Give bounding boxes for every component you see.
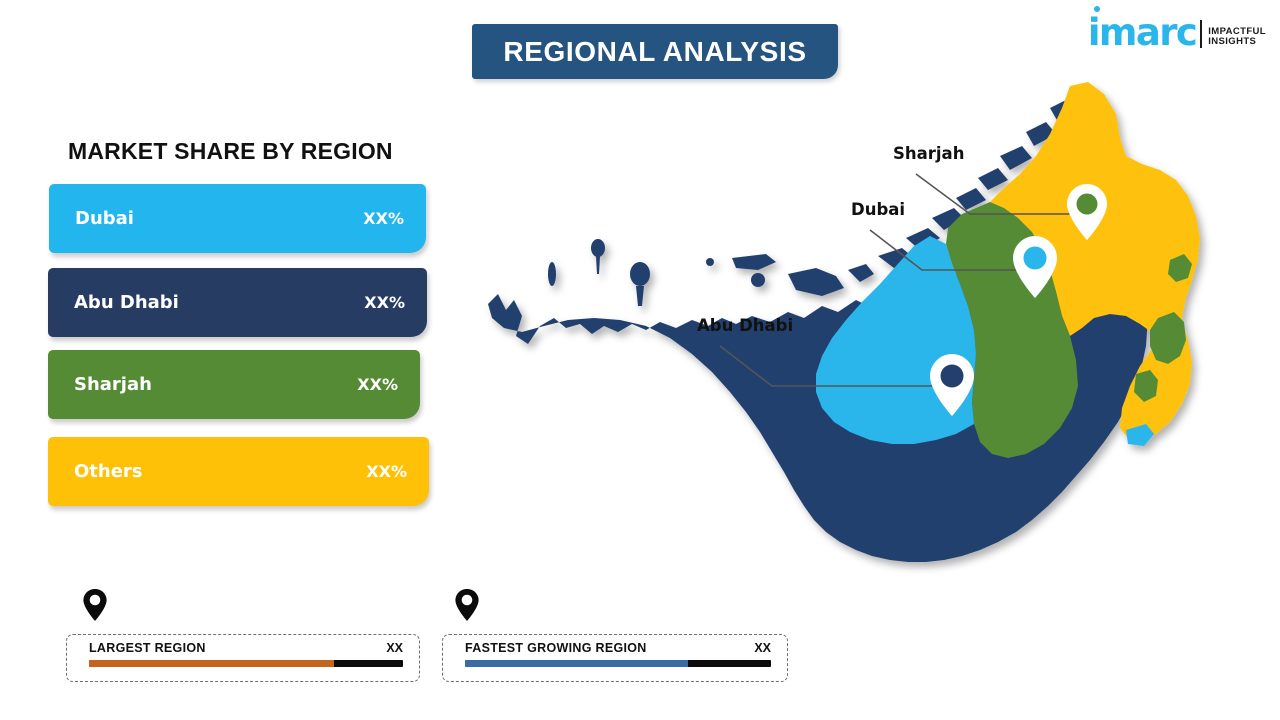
map-label-dubai: Dubai	[851, 200, 905, 219]
logo-tagline: IMPACTFUL INSIGHTS	[1208, 27, 1266, 48]
imarc-logo: imarc IMPACTFUL INSIGHTS	[1088, 14, 1266, 51]
market-share-heading: MARKET SHARE BY REGION	[68, 138, 393, 165]
map-island	[706, 258, 714, 266]
largest-region-card: LARGEST REGION XX	[66, 634, 420, 682]
share-bar-sharjah[interactable]: Sharjah XX%	[48, 350, 420, 419]
share-bar-label: Others	[74, 461, 366, 482]
map-island	[848, 264, 874, 282]
fastest-growing-region-label: FASTEST GROWING REGION	[465, 641, 754, 655]
map-island	[630, 262, 650, 286]
share-bar-label: Abu Dhabi	[74, 292, 364, 313]
share-bar-others[interactable]: Others XX%	[48, 437, 429, 506]
logo-wordmark: imarc	[1088, 14, 1196, 51]
share-bar-value: XX%	[364, 293, 405, 312]
share-bar-label: Dubai	[75, 208, 363, 229]
map-island	[591, 239, 605, 257]
map-label-sharjah: Sharjah	[893, 144, 964, 163]
map-island	[732, 254, 776, 270]
logo-tagline-line2: INSIGHTS	[1208, 37, 1266, 48]
largest-region-label: LARGEST REGION	[89, 641, 386, 655]
map-label-abu-dhabi: Abu Dhabi	[697, 316, 793, 335]
logo-dot-icon	[1094, 6, 1100, 12]
share-bar-value: XX%	[363, 209, 404, 228]
share-bar-abu-dhabi[interactable]: Abu Dhabi XX%	[48, 268, 427, 337]
map-island	[978, 168, 1008, 190]
page-title-banner: REGIONAL ANALYSIS	[472, 24, 838, 79]
largest-region-progress-fill	[89, 660, 334, 667]
share-bar-dubai[interactable]: Dubai XX%	[49, 184, 426, 253]
slide-canvas: REGIONAL ANALYSIS imarc IMPACTFUL INSIGH…	[0, 0, 1280, 720]
logo-divider	[1200, 20, 1202, 48]
largest-region-progress-track	[89, 660, 403, 667]
fastest-growing-region-progress-fill	[465, 660, 688, 667]
logo-wordmark-text: imarc	[1088, 11, 1196, 54]
largest-region-value: XX	[386, 641, 403, 655]
fastest-growing-region-card: FASTEST GROWING REGION XX	[442, 634, 788, 682]
map-island	[751, 273, 765, 287]
fastest-growing-region-progress-track	[465, 660, 771, 667]
share-bar-label: Sharjah	[74, 374, 357, 395]
map-island	[596, 256, 600, 274]
share-bar-value: XX%	[357, 375, 398, 394]
page-title: REGIONAL ANALYSIS	[503, 36, 806, 68]
location-pin-icon	[82, 588, 108, 622]
uae-region-map	[470, 78, 1230, 638]
map-island	[636, 286, 644, 306]
map-island	[548, 262, 556, 286]
share-bar-value: XX%	[366, 462, 407, 481]
map-island	[788, 268, 844, 296]
fastest-growing-region-value: XX	[754, 641, 771, 655]
